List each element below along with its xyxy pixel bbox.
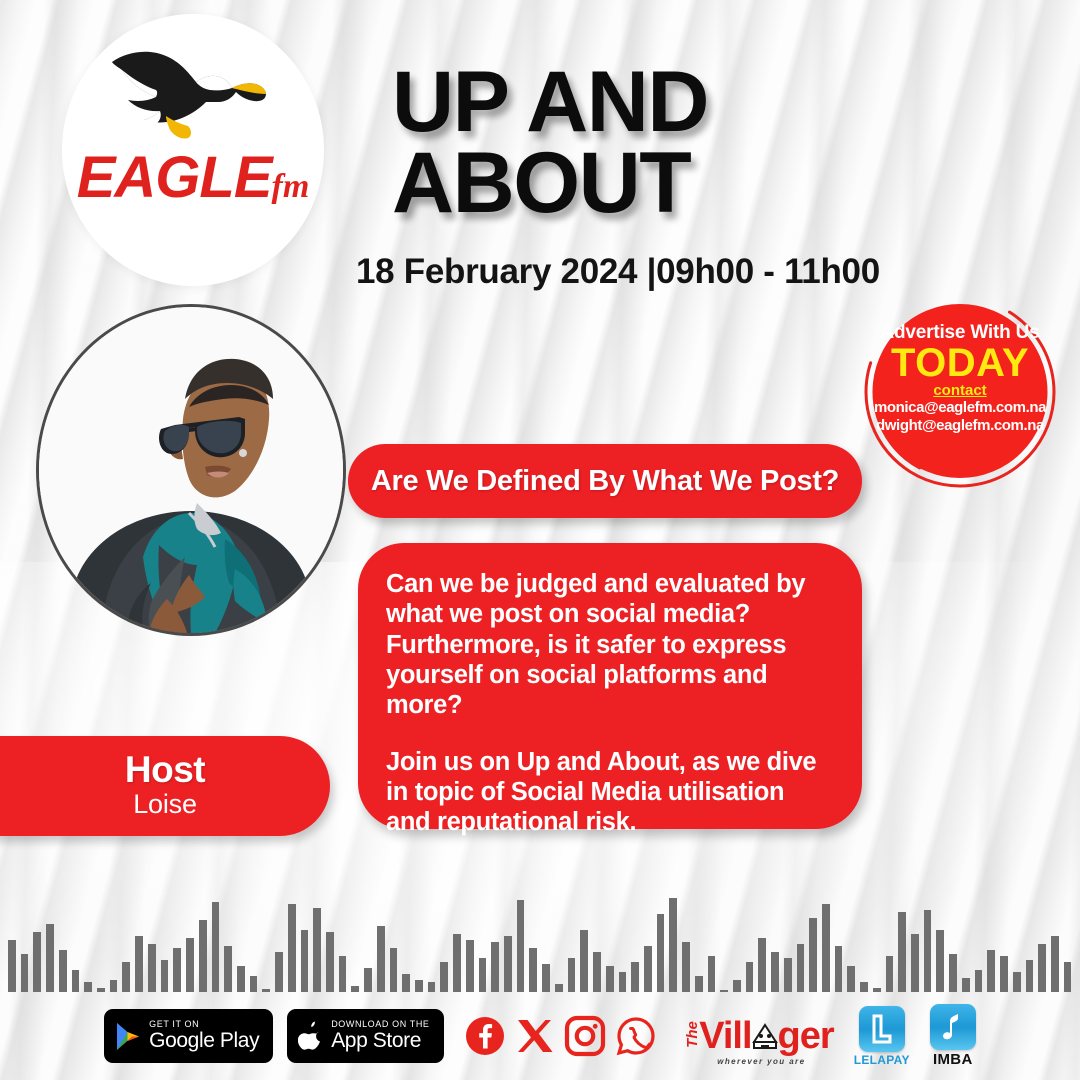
footer-bar: GET IT ON Google Play Download on the Ap…	[0, 992, 1080, 1080]
waveform-bar	[886, 956, 894, 992]
advertise-content: Advertise With Us TODAY contact monica@e…	[862, 322, 1058, 435]
waveform-bar	[1026, 960, 1034, 992]
facebook-icon[interactable]	[464, 1015, 506, 1057]
waveform-bar	[695, 976, 703, 992]
waveform-bar	[975, 970, 983, 992]
waveform-bar	[1013, 972, 1021, 992]
waveform-bar	[339, 956, 347, 992]
waveform-bar	[771, 952, 779, 992]
waveform-bar	[46, 924, 54, 992]
villager-tagline: wherever you are	[717, 1058, 805, 1066]
waveform-bar	[212, 902, 220, 992]
advertise-badge[interactable]: Advertise With Us TODAY contact monica@e…	[862, 294, 1058, 490]
waveform-bar	[822, 904, 830, 992]
villager-logo[interactable]: The Vill ger wherever you are	[679, 1017, 834, 1055]
waveform-bar	[847, 966, 855, 992]
waveform-bar	[364, 968, 372, 992]
waveform-bar	[555, 984, 563, 992]
waveform-bar	[402, 974, 410, 992]
show-title-line2: ABOUT	[392, 143, 1032, 224]
app-store-button[interactable]: Download on the App Store	[287, 1009, 443, 1063]
villager-wordmark: Vill ger wherever you are	[699, 1017, 833, 1055]
waveform-bar	[173, 948, 181, 992]
host-role-label: Host	[125, 751, 205, 788]
waveform-bar	[275, 952, 283, 992]
waveform-bar	[797, 944, 805, 992]
imba-label: IMBA	[933, 1051, 973, 1068]
waveform-bar	[1000, 956, 1008, 992]
waveform-bar	[835, 946, 843, 992]
waveform-bar	[657, 914, 665, 992]
imba-logo[interactable]: IMBA	[930, 1004, 976, 1068]
waveform-bar	[301, 930, 309, 992]
waveform-bar	[682, 942, 690, 992]
app-store-big-label: App Store	[331, 1030, 429, 1052]
host-name-label: Loise	[133, 788, 197, 822]
advertise-today: TODAY	[868, 343, 1052, 384]
waveform-bar	[135, 936, 143, 992]
waveform-bar	[542, 964, 550, 992]
waveform-bar	[898, 912, 906, 992]
waveform-bar	[33, 932, 41, 992]
host-photo-illustration	[39, 307, 343, 633]
google-play-big-label: Google Play	[149, 1030, 259, 1052]
station-logo-suffix: fm	[272, 168, 310, 205]
waveform-bar	[949, 954, 957, 992]
station-logo: EAGLEfm	[62, 14, 324, 286]
eagle-icon	[96, 46, 292, 158]
imba-music-note-icon	[941, 1012, 965, 1042]
waveform-bar	[326, 932, 334, 992]
waveform-bar	[237, 966, 245, 992]
waveform-bar	[593, 952, 601, 992]
station-logo-text: EAGLEfm	[62, 144, 324, 211]
waveform-bar	[631, 962, 639, 992]
waveform-bar	[746, 962, 754, 992]
show-title: UP AND ABOUT	[392, 62, 1032, 224]
x-twitter-icon[interactable]	[515, 1016, 555, 1056]
waveform-bar	[619, 972, 627, 992]
waveform-bar	[529, 948, 537, 992]
advertise-email-dwight[interactable]: dwight@eaglefm.com.na	[868, 417, 1052, 435]
show-datetime: 18 February 2024 |09h00 - 11h00	[356, 252, 880, 292]
waveform-bar	[1064, 962, 1072, 992]
waveform-bar	[784, 958, 792, 992]
waveform-bar	[606, 966, 614, 992]
waveform-bar	[911, 934, 919, 992]
waveform-bar	[84, 982, 92, 992]
waveform-bar	[517, 900, 525, 992]
waveform-bar	[440, 962, 448, 992]
waveform-bar	[936, 930, 944, 992]
waveform-bar	[568, 958, 576, 992]
waveform-bar	[288, 904, 296, 992]
waveform-bar	[250, 976, 258, 992]
waveform-bar	[8, 940, 16, 992]
waveform-bar	[491, 942, 499, 992]
villager-word-after: ger	[778, 1015, 834, 1057]
waveform-bar	[504, 936, 512, 992]
waveform-bar	[186, 938, 194, 992]
lelapay-icon	[869, 1014, 895, 1044]
waveform-bar	[1038, 944, 1046, 992]
waveform-bar	[377, 926, 385, 992]
waveform-bar	[453, 934, 461, 992]
waveform-bar	[199, 920, 207, 992]
waveform-bar	[669, 898, 677, 992]
waveform-bar	[924, 910, 932, 992]
waveform-bar	[580, 930, 588, 992]
whatsapp-icon[interactable]	[615, 1015, 657, 1057]
waveform-bar	[224, 946, 232, 992]
waveform-bar	[962, 978, 970, 992]
social-links	[464, 1015, 657, 1057]
waveform-bar	[479, 958, 487, 992]
description-paragraph-2: Join us on Up and About, as we dive in t…	[386, 747, 832, 838]
apple-icon	[298, 1021, 323, 1051]
waveform-bar	[987, 950, 995, 992]
villager-the-label: The	[683, 1021, 700, 1048]
waveform-bar	[161, 960, 169, 992]
waveform-bar	[758, 938, 766, 992]
lelapay-label: LELAPAY	[854, 1053, 910, 1067]
lelapay-tile	[859, 1006, 905, 1052]
waveform-bar	[466, 940, 474, 992]
lelapay-logo[interactable]: LELAPAY	[854, 1006, 910, 1067]
audio-waveform	[0, 886, 1080, 992]
imba-tile	[930, 1004, 976, 1050]
waveform-bar	[59, 950, 67, 992]
villager-word-before: Vill	[699, 1015, 751, 1057]
village-hut-icon	[752, 1022, 778, 1052]
host-portrait	[36, 304, 346, 636]
waveform-bar	[390, 948, 398, 992]
waveform-bar	[122, 962, 130, 992]
waveform-bar	[1051, 936, 1059, 992]
waveform-bar	[708, 956, 716, 992]
host-banner: Host Loise	[0, 736, 330, 836]
instagram-icon[interactable]	[564, 1015, 606, 1057]
waveform-bar	[148, 944, 156, 992]
poster-canvas: EAGLEfm UP AND ABOUT 18 February 2024 |0…	[0, 0, 1080, 1080]
description-card: Can we be judged and evaluated by what w…	[358, 543, 862, 829]
waveform-bar	[860, 982, 868, 992]
waveform-bar	[21, 954, 29, 992]
waveform-bar	[313, 908, 321, 992]
topic-banner: Are We Defined By What We Post?	[348, 444, 862, 518]
waveform-bar	[428, 982, 436, 992]
waveform-bar	[415, 980, 423, 992]
waveform-bar	[733, 980, 741, 992]
topic-question: Are We Defined By What We Post?	[371, 465, 839, 498]
description-paragraph-1: Can we be judged and evaluated by what w…	[386, 569, 832, 721]
google-play-button[interactable]: GET IT ON Google Play	[104, 1009, 273, 1063]
waveform-bar	[644, 946, 652, 992]
waveform-bar	[72, 970, 80, 992]
waveform-bar	[110, 980, 118, 992]
google-play-icon	[115, 1022, 141, 1051]
waveform-bar	[809, 918, 817, 992]
advertise-email-monica[interactable]: monica@eaglefm.com.na	[868, 399, 1052, 417]
station-logo-name: EAGLE	[77, 145, 272, 210]
